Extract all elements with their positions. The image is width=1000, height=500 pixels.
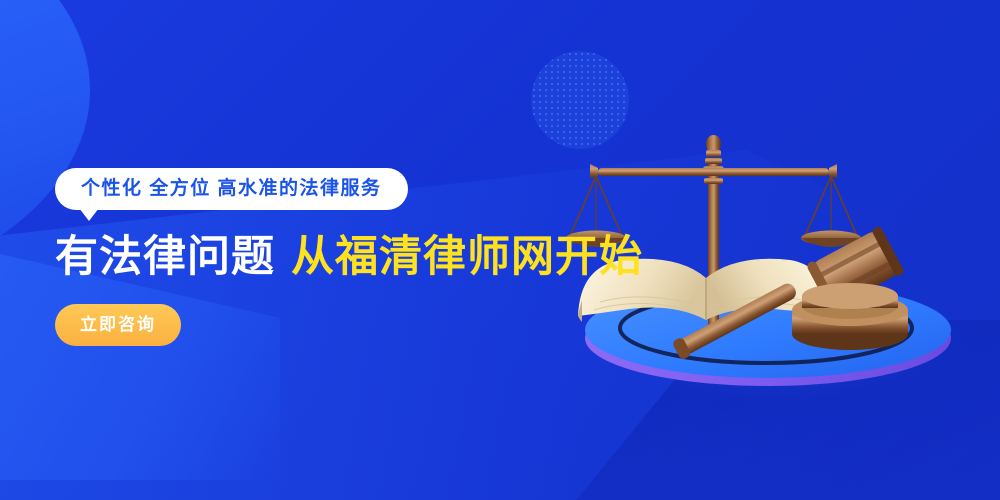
- tagline-pill-wrapper: 个性化 全方位 高水准的法律服务: [55, 168, 408, 210]
- headline-yellow-text: 从福清律师网开始: [291, 233, 643, 281]
- consult-now-button[interactable]: 立即咨询: [55, 304, 181, 346]
- sound-block: [792, 283, 908, 350]
- page-title: 有法律问题从福清律师网开始: [55, 235, 615, 280]
- legal-services-banner: 个性化 全方位 高水准的法律服务 有法律问题从福清律师网开始 立即咨询: [0, 0, 1000, 500]
- tagline-pill: 个性化 全方位 高水准的法律服务: [55, 168, 408, 210]
- tagline-pointer-tail: [79, 208, 99, 221]
- headline-white-text: 有法律问题: [55, 233, 275, 281]
- banner-content: 个性化 全方位 高水准的法律服务 有法律问题从福清律师网开始 立即咨询: [55, 168, 615, 346]
